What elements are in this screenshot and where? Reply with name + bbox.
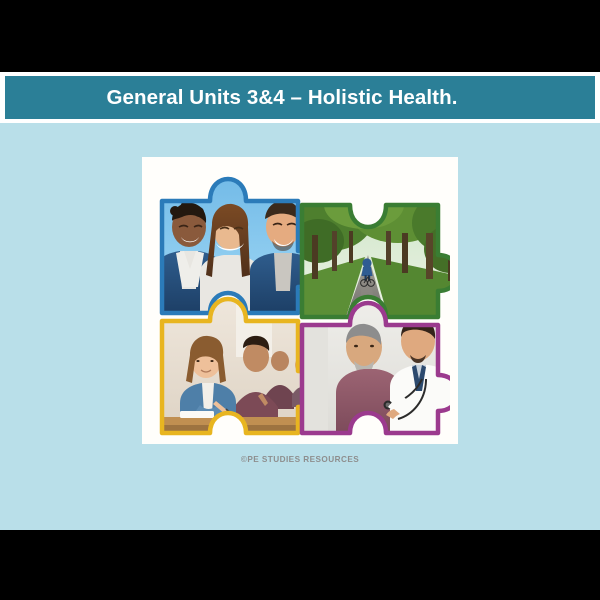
- copyright-notice: ©PE STUDIES RESOURCES: [0, 455, 600, 464]
- slide-content-area: ©PE STUDIES RESOURCES: [0, 123, 600, 530]
- slide-title-bar: General Units 3&4 – Holistic Health.: [5, 76, 595, 119]
- page-title: General Units 3&4 – Holistic Health.: [106, 86, 493, 110]
- holistic-health-puzzle: [150, 165, 450, 437]
- slide-body: General Units 3&4 – Holistic Health.: [0, 72, 600, 530]
- puzzle-image-card: [142, 157, 458, 444]
- letterbox-bottom: [0, 530, 600, 600]
- letterbox-top: [0, 0, 600, 72]
- slide-root: General Units 3&4 – Holistic Health.: [0, 0, 600, 600]
